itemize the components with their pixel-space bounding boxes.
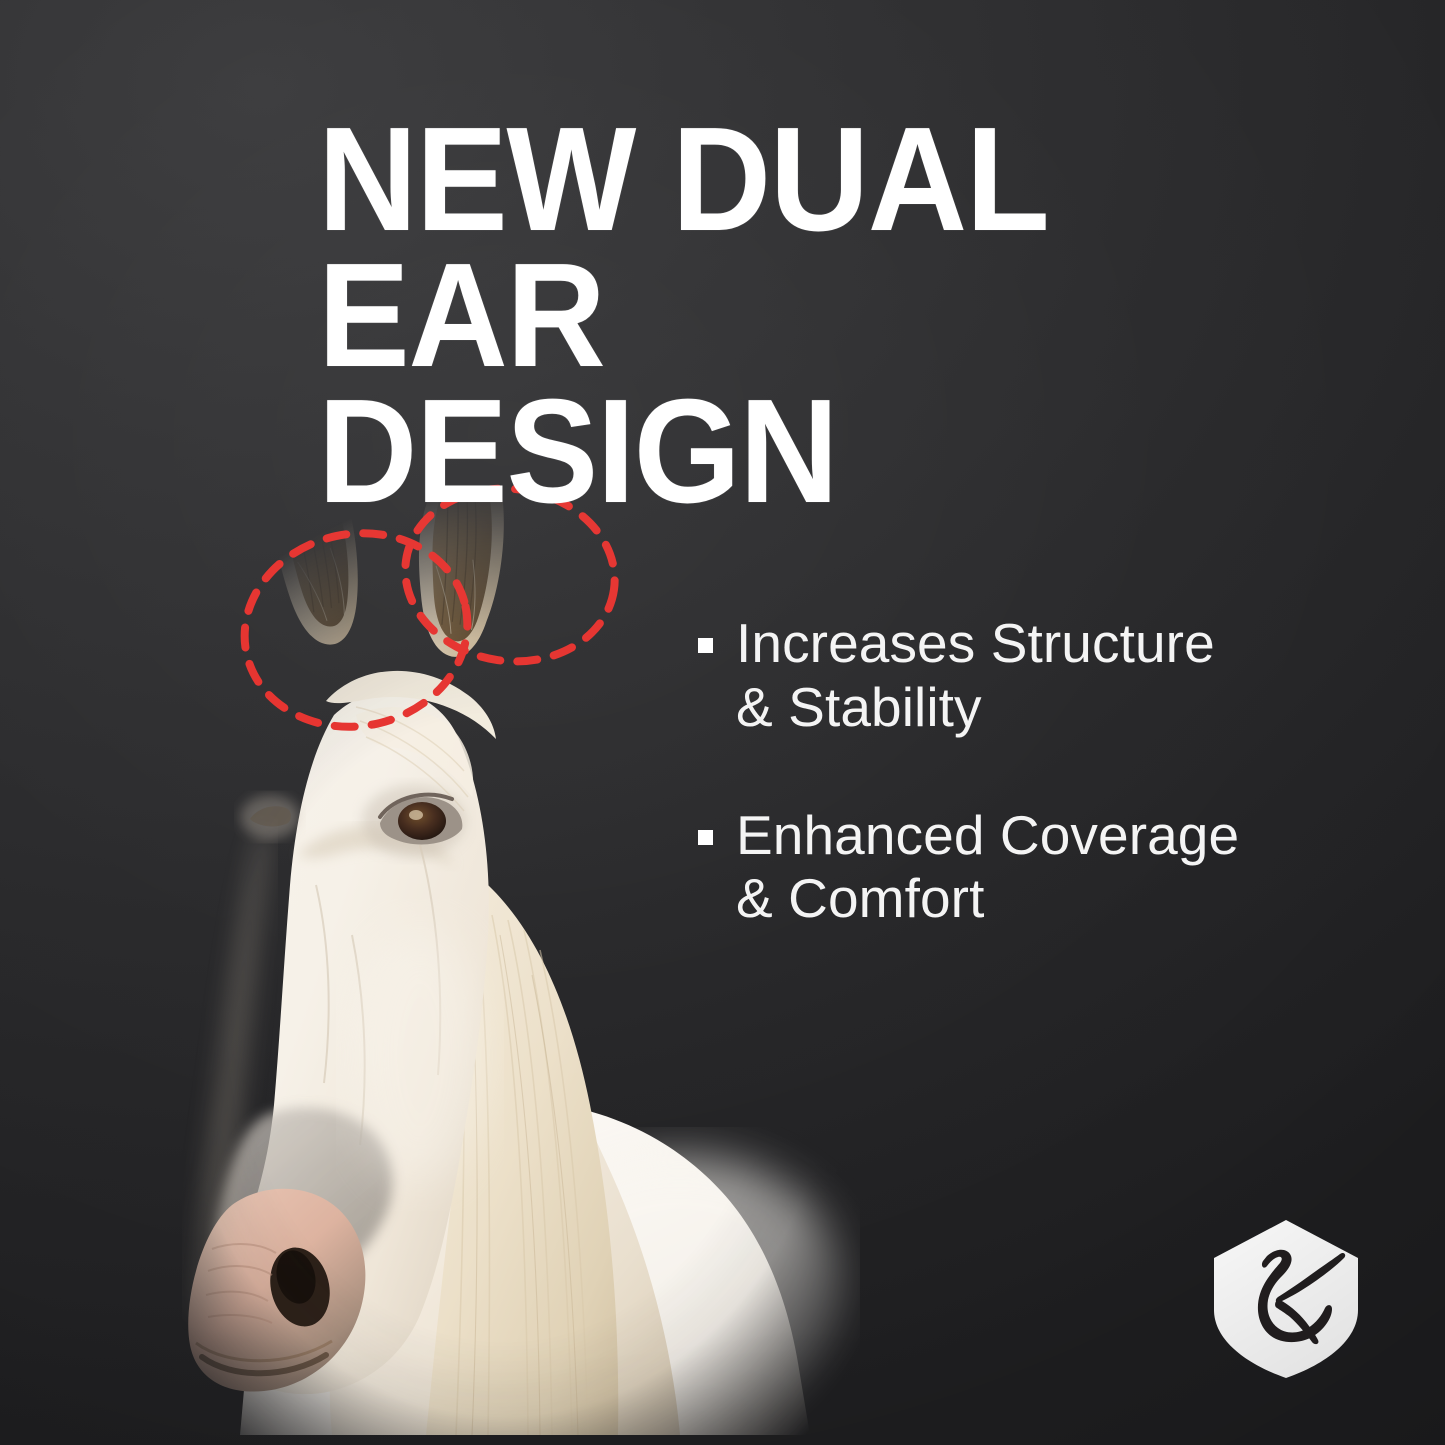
list-item: Increases Structure & Stability <box>698 612 1358 740</box>
brand-shield-logo <box>1206 1218 1366 1380</box>
feature-bullet-list: Increases Structure & Stability Enhanced… <box>698 612 1358 931</box>
promo-graphic-canvas: NEW DUAL EAR DESIGN Increases Structure … <box>0 0 1445 1445</box>
list-item: Enhanced Coverage & Comfort <box>698 804 1358 932</box>
square-bullet-icon <box>698 830 713 845</box>
square-bullet-icon <box>698 638 713 653</box>
list-item-label: Enhanced Coverage & Comfort <box>736 804 1239 932</box>
list-item-label: Increases Structure & Stability <box>736 612 1215 740</box>
shield-shape <box>1214 1220 1358 1378</box>
page-title: NEW DUAL EAR DESIGN <box>318 112 1155 520</box>
